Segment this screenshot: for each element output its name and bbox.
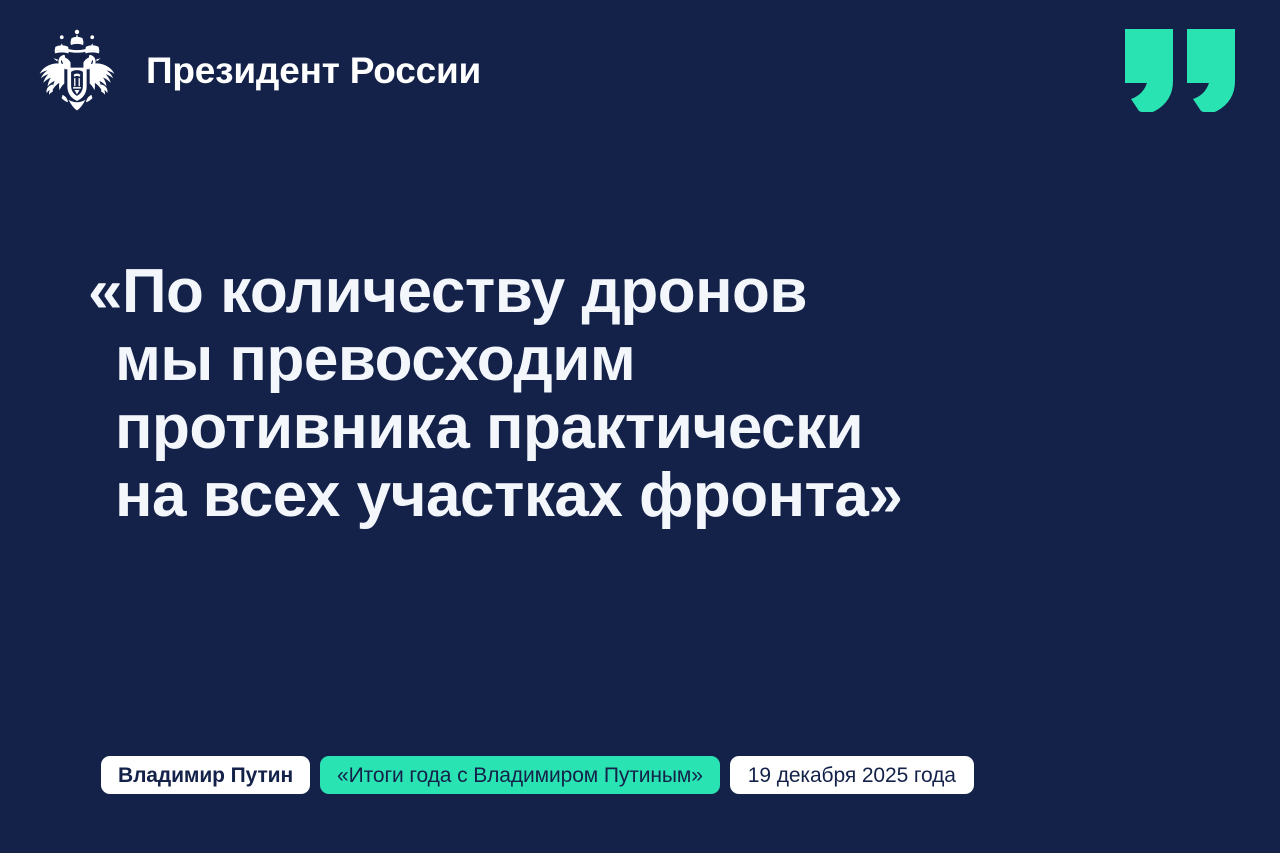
header: Президент России [0,0,1280,140]
date-badge: 19 декабря 2025 года [730,756,974,794]
quote-text: «По количеству дронов мы превосходим про… [88,258,1198,530]
quote-mark-decoration [1125,29,1235,112]
page-title: Президент России [146,52,481,91]
quote-line: мы превосходим [88,326,1198,394]
quote-card: Президент России «По количеству дронов м… [0,0,1280,853]
brand-lockup: Президент России [34,27,481,115]
russian-double-headed-eagle-emblem-icon [34,27,120,115]
closing-quotation-mark-icon [1125,29,1173,112]
quote-line: на всех участках фронта» [88,462,1198,530]
quote-line: противника практически [88,394,1198,462]
speaker-name-badge: Владимир Путин [101,756,310,794]
quote-line: «По количеству дронов [88,258,1198,326]
program-name-badge: «Итоги года с Владимиром Путиным» [320,756,720,794]
attribution-bar: Владимир Путин «Итоги года с Владимиром … [101,756,974,794]
closing-quotation-mark-icon [1187,29,1235,112]
